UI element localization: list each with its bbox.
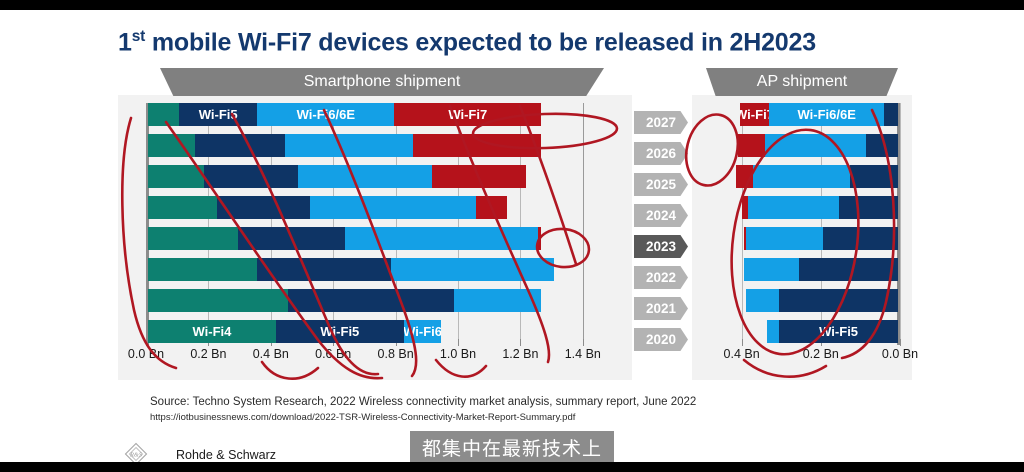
bar-segment-wifi7-2027[interactable]: Wi-Fi7 bbox=[394, 103, 541, 126]
bar-segment-wifi7-2026[interactable] bbox=[738, 134, 766, 157]
stacked-bar-2027[interactable]: Wi-Fi6/6EWi-Fi7 bbox=[740, 103, 898, 126]
bar-segment-wifi6-2026[interactable] bbox=[765, 134, 866, 157]
bar-segment-wifi6-2022[interactable] bbox=[391, 258, 553, 281]
bar-segment-label: Wi-Fi7 bbox=[448, 107, 487, 122]
stacked-bar-2021[interactable] bbox=[148, 289, 541, 312]
plot-area-smartphone: Wi-Fi5Wi-Fi6/6EWi-Fi7Wi-Fi4Wi-Fi5Wi-Fi6 … bbox=[146, 95, 614, 345]
bar-row-2024 bbox=[702, 196, 900, 219]
bar-segment-wifi4-2025[interactable] bbox=[148, 165, 204, 188]
bar-segment-wifi5-2024[interactable] bbox=[839, 196, 898, 219]
title-superscript: st bbox=[132, 28, 145, 45]
bar-segment-wifi6-2025[interactable] bbox=[298, 165, 432, 188]
bar-row-2022 bbox=[702, 258, 900, 281]
x-tick-label: 1.0 Bn bbox=[440, 347, 476, 361]
bar-segment-wifi4-2022[interactable] bbox=[148, 258, 257, 281]
bar-segment-wifi4-2026[interactable] bbox=[148, 134, 195, 157]
bar-segment-wifi6-2027[interactable]: Wi-Fi6/6E bbox=[257, 103, 394, 126]
year-axis-badges: 20272026202520242023202220212020 bbox=[634, 103, 688, 353]
bar-segment-wifi7-2026[interactable] bbox=[413, 134, 541, 157]
year-badge-2021[interactable]: 2021 bbox=[634, 297, 688, 320]
year-badge-2022[interactable]: 2022 bbox=[634, 266, 688, 289]
year-badge-2020[interactable]: 2020 bbox=[634, 328, 688, 351]
x-tick-label: 0.0 Bn bbox=[882, 347, 918, 361]
stacked-bar-2026[interactable] bbox=[148, 134, 541, 157]
bar-segment-wifi6-2021[interactable] bbox=[746, 289, 780, 312]
source-citation: Source: Techno System Research, 2022 Wir… bbox=[150, 394, 696, 424]
bar-row-2023 bbox=[702, 227, 900, 250]
bar-segment-wifi5-2027[interactable] bbox=[884, 103, 898, 126]
bar-segment-wifi6-2023[interactable] bbox=[746, 227, 823, 250]
title-rest: mobile Wi-Fi7 devices expected to be rel… bbox=[145, 28, 816, 56]
bar-segment-wifi6-2026[interactable] bbox=[285, 134, 413, 157]
banner-smartphone-shipment: Smartphone shipment bbox=[160, 68, 604, 96]
year-badge-2023[interactable]: 2023 bbox=[634, 235, 688, 258]
bar-segment-wifi5-2021[interactable] bbox=[779, 289, 898, 312]
bar-segment-wifi4-2027[interactable] bbox=[148, 103, 179, 126]
bar-row-2024 bbox=[146, 196, 614, 219]
x-tick-label: 0.2 Bn bbox=[803, 347, 839, 361]
bar-segment-wifi5-2020[interactable]: Wi-Fi5 bbox=[276, 320, 404, 343]
slide-canvas: 1st mobile Wi-Fi7 devices expected to be… bbox=[0, 10, 1024, 462]
x-tick-label: 0.4 Bn bbox=[724, 347, 760, 361]
bar-segment-label: Wi-Fi4 bbox=[193, 324, 232, 339]
bar-segment-wifi5-2022[interactable] bbox=[257, 258, 391, 281]
bar-segment-wifi5-2026[interactable] bbox=[195, 134, 285, 157]
bar-segment-wifi6-2020[interactable]: Wi-Fi6 bbox=[404, 320, 441, 343]
x-tick-label: 0.8 Bn bbox=[378, 347, 414, 361]
bar-segment-wifi6-2023[interactable] bbox=[345, 227, 538, 250]
stacked-bar-2026[interactable] bbox=[738, 134, 898, 157]
year-badge-2025[interactable]: 2025 bbox=[634, 173, 688, 196]
bar-row-2027: Wi-Fi6/6EWi-Fi7 bbox=[702, 103, 900, 126]
gridline bbox=[900, 103, 901, 345]
bar-row-2020: Wi-Fi5 bbox=[702, 320, 900, 343]
bar-segment-label: Wi-Fi5 bbox=[320, 324, 359, 339]
x-tick-label: 0.6 Bn bbox=[315, 347, 351, 361]
bar-segment-wifi5-2023[interactable] bbox=[823, 227, 898, 250]
bar-segment-wifi4-2021[interactable] bbox=[148, 289, 288, 312]
year-badge-2026[interactable]: 2026 bbox=[634, 142, 688, 165]
bar-row-2023 bbox=[146, 227, 614, 250]
stacked-bar-2027[interactable]: Wi-Fi5Wi-Fi6/6EWi-Fi7 bbox=[148, 103, 541, 126]
bar-segment-wifi5-2027[interactable]: Wi-Fi5 bbox=[179, 103, 257, 126]
bar-segment-wifi6-2020[interactable] bbox=[767, 320, 779, 343]
bar-row-2026 bbox=[702, 134, 900, 157]
bar-row-2025 bbox=[146, 165, 614, 188]
bar-segment-label: Wi-Fi6/6E bbox=[798, 107, 856, 122]
title-prefix: 1 bbox=[118, 28, 132, 56]
stacked-bar-2025[interactable] bbox=[736, 165, 898, 188]
bar-segment-wifi5-2024[interactable] bbox=[217, 196, 311, 219]
bar-segment-wifi4-2023[interactable] bbox=[148, 227, 238, 250]
bar-row-2026 bbox=[146, 134, 614, 157]
bar-segment-label: Wi-Fi7 bbox=[740, 107, 770, 122]
stacked-bar-2024[interactable] bbox=[148, 196, 507, 219]
x-axis-ticklabels-smartphone: 0.0 Bn0.2 Bn0.4 Bn0.6 Bn0.8 Bn1.0 Bn1.2 … bbox=[146, 347, 614, 365]
x-axis-ticklabels-ap: 0.4 Bn0.2 Bn0.0 Bn bbox=[702, 347, 900, 365]
bar-segment-label: Wi-Fi5 bbox=[819, 324, 858, 339]
rohde-schwarz-diamond-icon: R&S bbox=[124, 442, 148, 462]
bar-segment-wifi5-2022[interactable] bbox=[799, 258, 898, 281]
stacked-bar-2025[interactable] bbox=[148, 165, 526, 188]
bar-segment-wifi4-2024[interactable] bbox=[148, 196, 217, 219]
bar-segment-wifi7-2025[interactable] bbox=[736, 165, 754, 188]
bar-segment-wifi6-2022[interactable] bbox=[744, 258, 799, 281]
bar-segment-label: Wi-Fi6 bbox=[404, 324, 441, 339]
bar-segment-label: Wi-Fi6/6E bbox=[297, 107, 355, 122]
stacked-bar-2023[interactable] bbox=[148, 227, 541, 250]
chart-panel-smartphone: Wi-Fi5Wi-Fi6/6EWi-Fi7Wi-Fi4Wi-Fi5Wi-Fi6 … bbox=[118, 95, 632, 380]
stacked-bar-2024[interactable] bbox=[742, 196, 898, 219]
chart-panel-ap: Wi-Fi6/6EWi-Fi7Wi-Fi5 0.4 Bn0.2 Bn0.0 Bn bbox=[692, 95, 912, 380]
bar-row-2020: Wi-Fi4Wi-Fi5Wi-Fi6 bbox=[146, 320, 614, 343]
stacked-bar-2020[interactable]: Wi-Fi4Wi-Fi5Wi-Fi6 bbox=[148, 320, 441, 343]
bar-segment-wifi5-2021[interactable] bbox=[288, 289, 453, 312]
bar-segment-wifi5-2026[interactable] bbox=[866, 134, 898, 157]
tick-mark bbox=[900, 339, 901, 346]
x-tick-label: 0.4 Bn bbox=[253, 347, 289, 361]
bar-row-2022 bbox=[146, 258, 614, 281]
bar-segment-wifi7-2027[interactable]: Wi-Fi7 bbox=[740, 103, 770, 126]
stacked-bar-2022[interactable] bbox=[744, 258, 898, 281]
x-tick-label: 1.4 Bn bbox=[565, 347, 601, 361]
caption-subtitle-box: 都集中在最新技术上 bbox=[410, 431, 614, 462]
bar-segment-wifi5-2025[interactable] bbox=[204, 165, 298, 188]
year-badge-2027[interactable]: 2027 bbox=[634, 111, 688, 134]
page-title: 1st mobile Wi-Fi7 devices expected to be… bbox=[118, 28, 918, 57]
stacked-bar-2023[interactable] bbox=[744, 227, 898, 250]
banner-ap-shipment: AP shipment bbox=[706, 68, 898, 96]
bar-segment-wifi6-2021[interactable] bbox=[454, 289, 541, 312]
bar-segment-wifi7-2025[interactable] bbox=[432, 165, 526, 188]
stacked-bar-2021[interactable] bbox=[746, 289, 898, 312]
svg-text:R&S: R&S bbox=[129, 452, 143, 459]
x-tick-label: 0.0 Bn bbox=[128, 347, 164, 361]
stacked-bar-2022[interactable] bbox=[148, 258, 554, 281]
bar-segment-wifi7-2023[interactable] bbox=[538, 227, 541, 250]
bar-segment-wifi5-2023[interactable] bbox=[238, 227, 344, 250]
bar-segment-wifi4-2020[interactable]: Wi-Fi4 bbox=[148, 320, 276, 343]
stacked-bar-2020[interactable]: Wi-Fi5 bbox=[767, 320, 898, 343]
source-line: Source: Techno System Research, 2022 Wir… bbox=[150, 394, 696, 411]
bar-segment-wifi6-2027[interactable]: Wi-Fi6/6E bbox=[769, 103, 884, 126]
x-tick-label: 0.2 Bn bbox=[190, 347, 226, 361]
bar-row-2021 bbox=[146, 289, 614, 312]
bar-segment-wifi7-2024[interactable] bbox=[476, 196, 507, 219]
x-tick-label: 1.2 Bn bbox=[502, 347, 538, 361]
bar-row-2021 bbox=[702, 289, 900, 312]
bar-segment-label: Wi-Fi5 bbox=[199, 107, 238, 122]
bar-segment-wifi6-2025[interactable] bbox=[753, 165, 850, 188]
plot-area-ap: Wi-Fi6/6EWi-Fi7Wi-Fi5 0.4 Bn0.2 Bn0.0 Bn bbox=[702, 95, 900, 345]
bar-row-2025 bbox=[702, 165, 900, 188]
bar-segment-wifi5-2020[interactable]: Wi-Fi5 bbox=[779, 320, 898, 343]
source-url[interactable]: https://iotbusinessnews.com/download/202… bbox=[150, 411, 696, 425]
brand-name: Rohde & Schwarz bbox=[176, 448, 276, 462]
bar-segment-wifi6-2024[interactable] bbox=[748, 196, 839, 219]
year-badge-2024[interactable]: 2024 bbox=[634, 204, 688, 227]
bar-segment-wifi5-2025[interactable] bbox=[850, 165, 898, 188]
bar-segment-wifi6-2024[interactable] bbox=[310, 196, 475, 219]
bar-row-2027: Wi-Fi5Wi-Fi6/6EWi-Fi7 bbox=[146, 103, 614, 126]
